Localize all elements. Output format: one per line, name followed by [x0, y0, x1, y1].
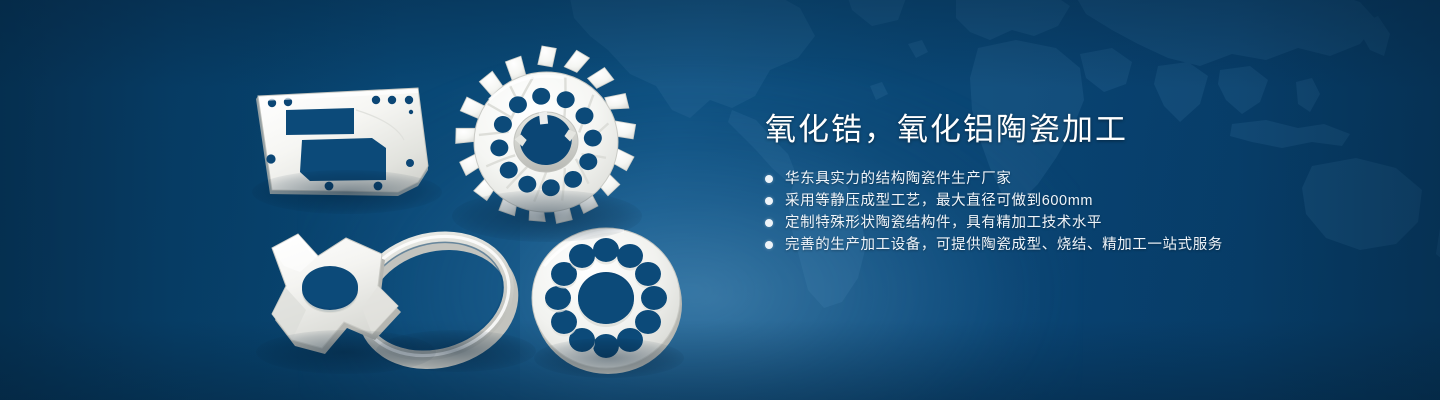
- feature-text: 完善的生产加工设备，可提供陶瓷成型、烧结、精加工一站式服务: [785, 234, 1223, 256]
- cross-shaped-plate: [272, 234, 401, 354]
- list-item: 完善的生产加工设备，可提供陶瓷成型、烧结、精加工一站式服务: [765, 234, 1405, 256]
- list-item: 华东具实力的结构陶瓷件生产厂家: [765, 168, 1405, 190]
- product-photo-group: [0, 0, 760, 400]
- bullet-dot-icon: [765, 219, 773, 227]
- bullet-dot-icon: [765, 197, 773, 205]
- page-title: 氧化锆，氧化铝陶瓷加工: [765, 108, 1405, 152]
- bullet-dot-icon: [765, 241, 773, 249]
- vaned-impeller-disc: [446, 37, 645, 233]
- feature-list: 华东具实力的结构陶瓷件生产厂家 采用等静压成型工艺，最大直径可做到600mm 定…: [765, 168, 1405, 256]
- feature-text: 采用等静压成型工艺，最大直径可做到600mm: [785, 190, 1093, 212]
- list-item: 定制特殊形状陶瓷结构件，具有精加工技术水平: [765, 212, 1405, 234]
- perforated-disc: [532, 228, 682, 374]
- machined-ceramic-plate: [256, 88, 428, 196]
- ceramic-processing-banner: 氧化锆，氧化铝陶瓷加工 华东具实力的结构陶瓷件生产厂家 采用等静压成型工艺，最大…: [0, 0, 1440, 400]
- bullet-dot-icon: [765, 175, 773, 183]
- feature-text: 定制特殊形状陶瓷结构件，具有精加工技术水平: [785, 212, 1102, 234]
- feature-text: 华东具实力的结构陶瓷件生产厂家: [785, 168, 1012, 190]
- list-item: 采用等静压成型工艺，最大直径可做到600mm: [765, 190, 1405, 212]
- banner-copy: 氧化锆，氧化铝陶瓷加工 华东具实力的结构陶瓷件生产厂家 采用等静压成型工艺，最大…: [765, 108, 1405, 256]
